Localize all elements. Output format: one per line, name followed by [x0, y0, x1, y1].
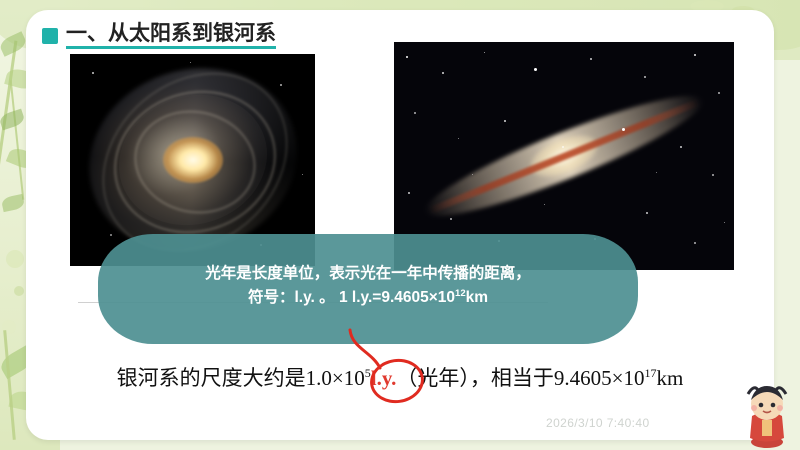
star-speck — [694, 242, 696, 244]
star-speck — [484, 52, 485, 53]
star-speck — [190, 62, 191, 63]
star-speck — [622, 128, 625, 131]
callout-line-2-suffix: km — [466, 289, 488, 306]
star-speck — [656, 172, 657, 173]
mascot-character — [736, 376, 798, 450]
star-speck — [724, 222, 725, 223]
star-speck — [680, 146, 682, 148]
sentence-exponent-2: 17 — [645, 366, 657, 380]
star-speck — [694, 54, 696, 56]
star-speck — [92, 72, 94, 74]
page-title: 一、从太阳系到银河系 — [66, 22, 276, 49]
star-speck — [450, 218, 452, 220]
star-speck — [712, 174, 714, 176]
sentence-part-1: 银河系的尺度大约是1.0×10 — [117, 366, 365, 390]
star-speck — [646, 212, 648, 214]
title-bullet-marker — [42, 28, 58, 44]
callout-line-2: 符号：l.y. 。 1 l.y.=9.4605×1012km — [106, 286, 630, 310]
red-pointer-curve — [346, 328, 406, 372]
callout-line-2-exponent: 12 — [455, 288, 466, 299]
timestamp-watermark: 2026/3/10 7:40:40 — [546, 416, 650, 430]
star-speck — [302, 174, 303, 175]
star-speck — [442, 72, 444, 74]
star-speck — [110, 234, 112, 236]
star-speck — [414, 112, 416, 114]
sentence-part-3: km — [657, 366, 684, 390]
star-speck — [504, 120, 506, 122]
slide-title: 一、从太阳系到银河系 — [42, 22, 276, 49]
star-speck — [562, 146, 564, 148]
star-speck — [458, 138, 459, 139]
sentence-part-2: （光年），相当于9.4605×10 — [396, 366, 644, 390]
star-speck — [406, 56, 408, 58]
callout-line-1: 光年是长度单位，表示光在一年中传播的距离， — [106, 262, 630, 286]
star-speck — [534, 68, 537, 71]
definition-callout-text: 光年是长度单位，表示光在一年中传播的距离， 符号：l.y. 。 1 l.y.=9… — [106, 262, 630, 310]
decorative-dot — [14, 286, 24, 296]
star-speck — [644, 76, 646, 78]
star-speck — [590, 58, 592, 60]
galaxy-dust-lane — [428, 99, 700, 214]
callout-line-2-prefix: 符号：l.y. 。 1 l.y.=9.4605×10 — [248, 289, 455, 306]
star-speck — [472, 174, 473, 175]
star-speck — [544, 204, 545, 205]
star-speck — [280, 84, 282, 86]
decorative-dot — [6, 250, 24, 268]
galaxy-core — [163, 137, 223, 183]
star-speck — [408, 192, 410, 194]
slide-content-card: 一、从太阳系到银河系 — [26, 10, 774, 440]
star-speck — [718, 92, 720, 94]
